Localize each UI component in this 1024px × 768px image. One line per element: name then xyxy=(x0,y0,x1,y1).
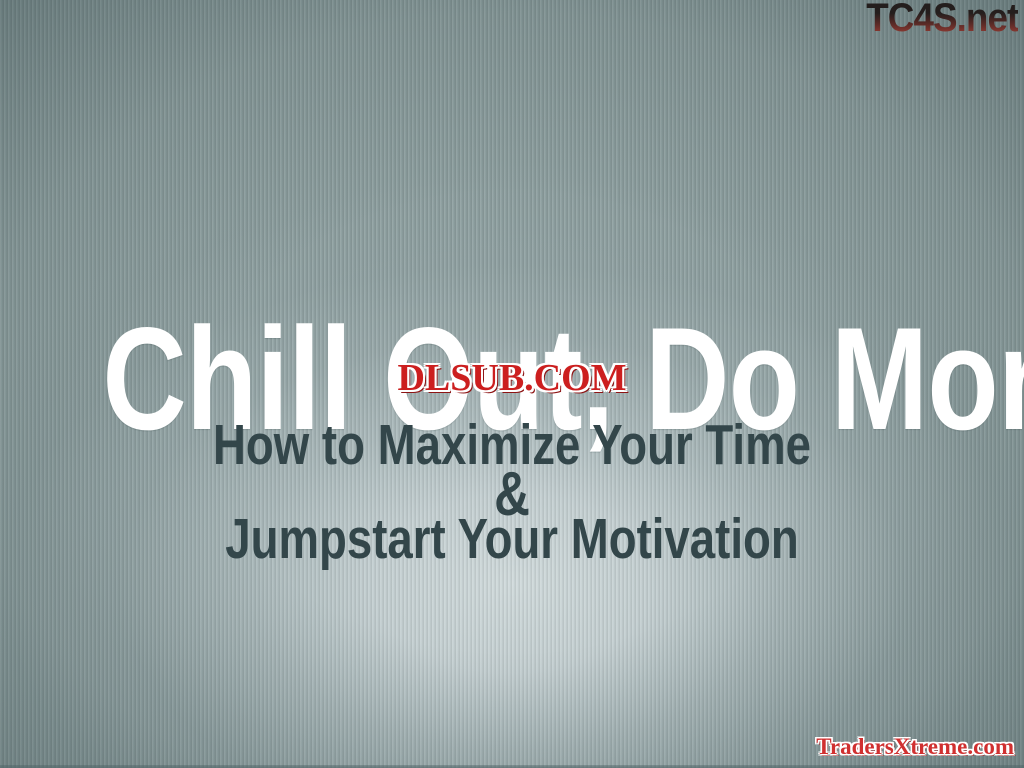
presentation-slide: Chill Out, Do More How to Maximize Your … xyxy=(0,0,1024,768)
subtitle-line-2: Jumpstart Your Motivation xyxy=(102,512,921,566)
slide-subtitle: How to Maximize Your Time & Jumpstart Yo… xyxy=(102,418,921,566)
watermark-center-dlsub: DLSUB.COM xyxy=(397,356,626,400)
watermark-bottom-right: TradersXtreme.com xyxy=(816,734,1014,760)
watermark-top-right: TC4S.net xyxy=(866,0,1018,41)
